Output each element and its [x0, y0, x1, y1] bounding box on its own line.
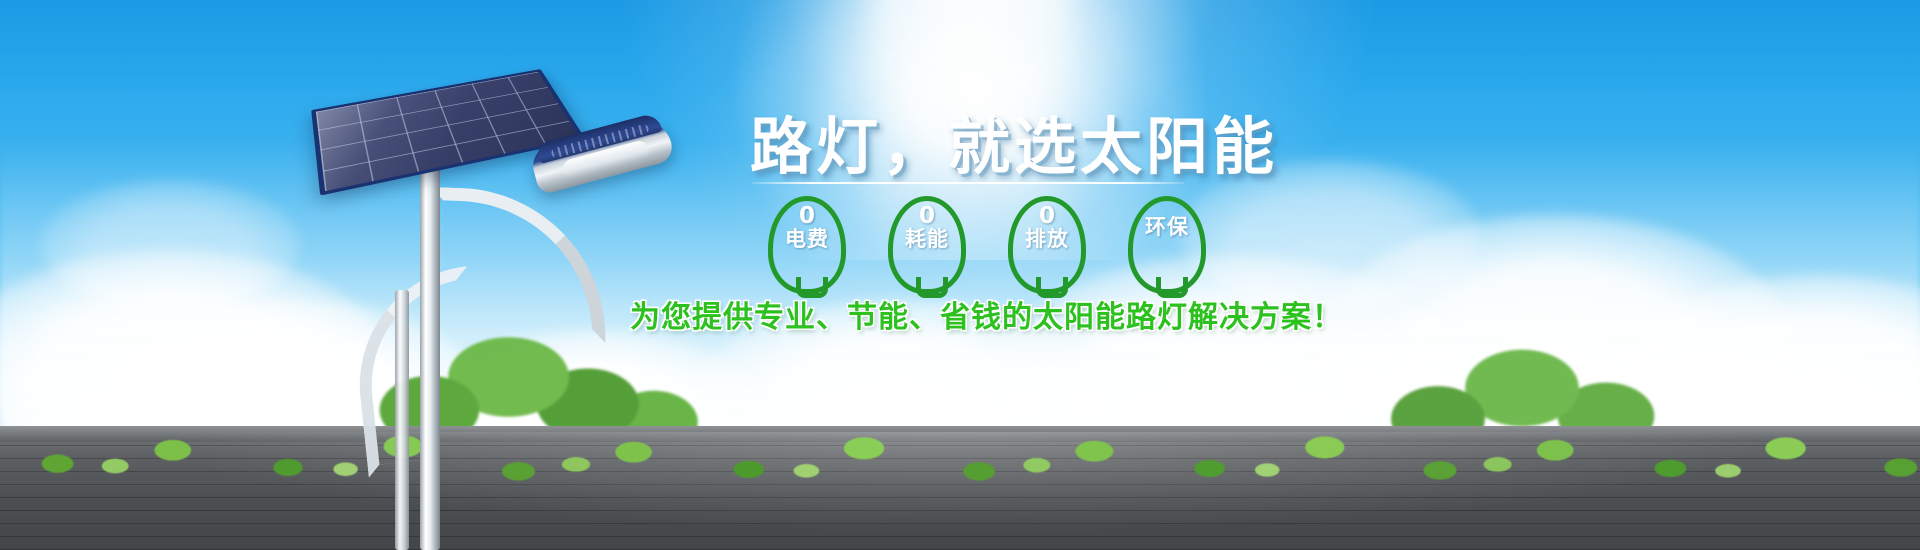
feature-badge-eco: 环保	[1128, 196, 1206, 294]
badge-text: 0 耗能	[888, 204, 966, 251]
headline: 路灯，就选太阳能	[750, 96, 1278, 186]
subtitle: 为您提供专业、节能、省钱的太阳能路灯解决方案！	[630, 292, 1343, 336]
badge-number: 0	[768, 204, 846, 228]
badge-text: 环保	[1128, 216, 1206, 238]
badge-number: 0	[888, 204, 966, 228]
badge-label: 电费	[768, 228, 846, 250]
lamp-arm	[425, 187, 610, 343]
badge-text: 0 排放	[1008, 204, 1086, 251]
divider	[752, 182, 1184, 184]
lamp-back-pole	[395, 290, 409, 550]
vine-foliage-highlight	[0, 410, 1920, 490]
lamp-pole	[420, 145, 440, 550]
hero-banner: 路灯，就选太阳能 0 电费 0 耗能 0	[0, 0, 1920, 550]
badge-number: 0	[1008, 204, 1086, 228]
badge-label: 耗能	[888, 228, 966, 250]
feature-badge-emission: 0 排放	[1008, 196, 1086, 294]
badge-label: 排放	[1008, 228, 1086, 250]
feature-badge-consumption: 0 耗能	[888, 196, 966, 294]
copy-block: 路灯，就选太阳能 0 电费 0 耗能 0	[600, 0, 1300, 420]
feature-badge-list: 0 电费 0 耗能 0 排放	[768, 196, 1206, 294]
feature-badge-electricity: 0 电费	[768, 196, 846, 294]
badge-label: 环保	[1128, 216, 1206, 238]
badge-text: 0 电费	[768, 204, 846, 251]
bulb-outline-icon	[1128, 196, 1206, 294]
